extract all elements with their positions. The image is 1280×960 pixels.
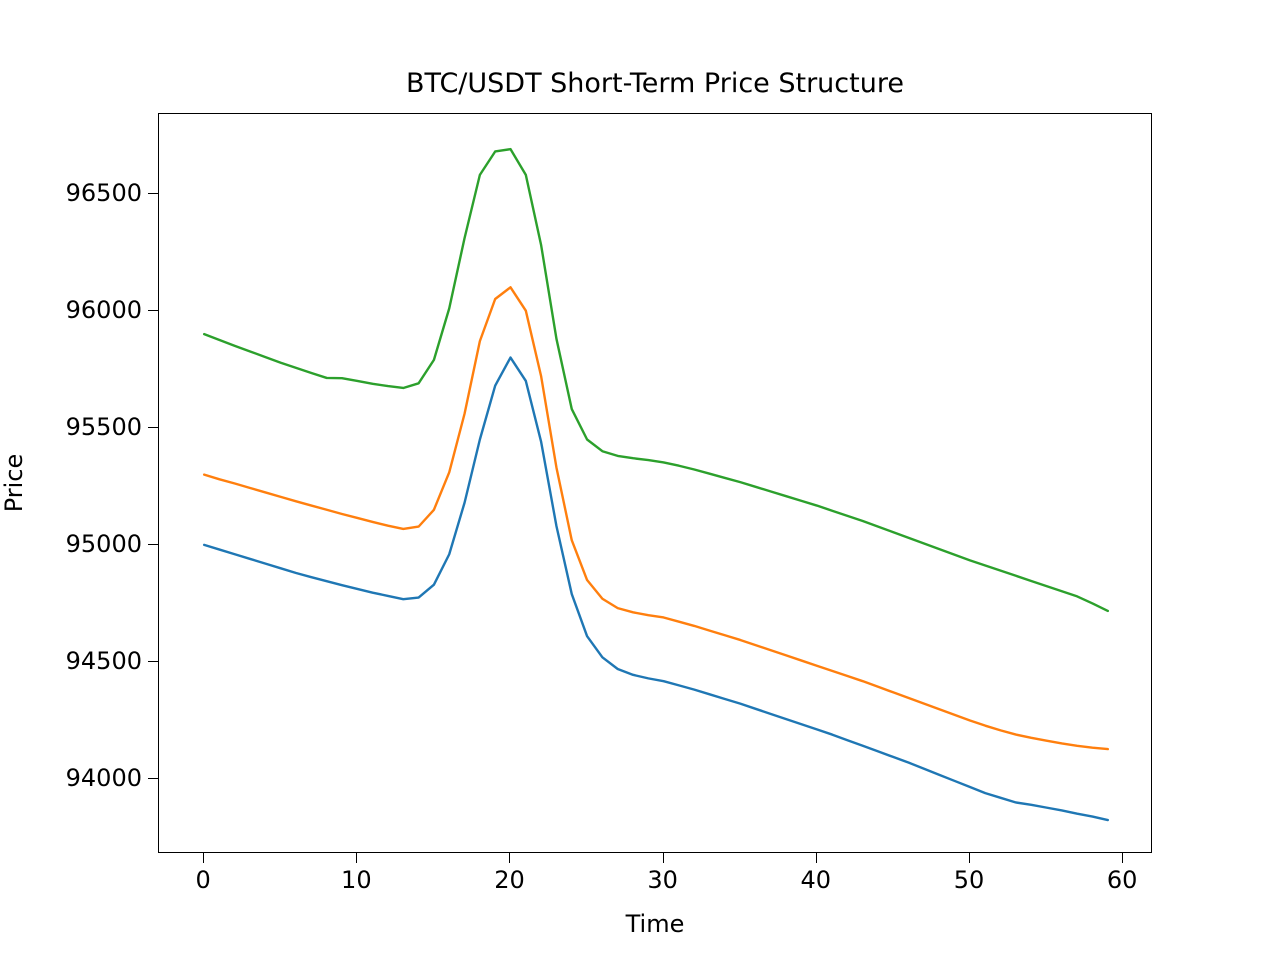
y-tick-label: 94500	[66, 647, 142, 675]
x-tick-label: 0	[196, 866, 211, 894]
x-tick-mark	[203, 853, 204, 863]
y-tick-label: 94000	[66, 764, 142, 792]
page-title: BTC/USDT Short-Term Price Structure	[158, 68, 1152, 99]
y-tick-label: 96500	[66, 179, 142, 207]
x-tick-label: 60	[1107, 866, 1138, 894]
y-tick-mark	[148, 661, 158, 662]
x-axis-label: Time	[158, 910, 1152, 938]
x-axis-tick-marks	[158, 853, 1152, 867]
x-axis-tick-labels: 0102030405060	[158, 866, 1152, 906]
y-tick-mark	[148, 427, 158, 428]
plot-area	[158, 113, 1152, 853]
y-tick-mark	[148, 193, 158, 194]
y-tick-mark	[148, 310, 158, 311]
y-axis-tick-labels: 940009450095000955009600096500	[0, 113, 142, 853]
y-tick-label: 96000	[66, 296, 142, 324]
x-tick-label: 30	[647, 866, 678, 894]
series-green	[204, 149, 1108, 611]
x-tick-label: 40	[801, 866, 832, 894]
y-tick-mark	[148, 544, 158, 545]
x-tick-mark	[356, 853, 357, 863]
x-tick-label: 20	[494, 866, 525, 894]
figure-canvas: BTC/USDT Short-Term Price Structure Pric…	[0, 0, 1280, 960]
x-tick-mark	[509, 853, 510, 863]
x-tick-label: 50	[954, 866, 985, 894]
x-tick-label: 10	[341, 866, 372, 894]
x-tick-mark	[1122, 853, 1123, 863]
y-axis-tick-marks	[144, 113, 158, 853]
series-lines	[159, 114, 1153, 854]
x-tick-mark	[969, 853, 970, 863]
y-tick-mark	[148, 778, 158, 779]
y-tick-label: 95500	[66, 413, 142, 441]
x-tick-mark	[663, 853, 664, 863]
y-tick-label: 95000	[66, 530, 142, 558]
series-blue	[204, 358, 1108, 821]
x-tick-mark	[816, 853, 817, 863]
